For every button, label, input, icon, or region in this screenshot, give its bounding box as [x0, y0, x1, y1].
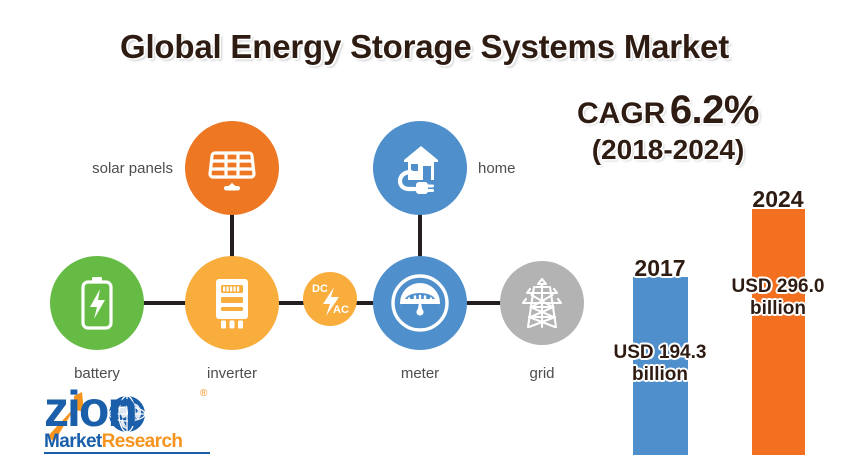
bar-value-2017-line2: billion	[586, 364, 734, 386]
home-plug-icon	[391, 140, 449, 196]
node-label-meter: meter	[370, 365, 470, 382]
connector-meter-grid	[462, 301, 504, 305]
bar-value-2024: USD 296.0 billion	[702, 276, 849, 320]
bar-year-2024: 2024	[728, 186, 828, 213]
node-inverter[interactable]	[185, 256, 279, 350]
node-solar-panels[interactable]	[185, 121, 279, 215]
logo-brand-text: zion	[44, 384, 136, 434]
solar-panel-icon	[205, 141, 259, 195]
connector-home-meter	[418, 212, 422, 260]
meter-icon	[388, 271, 452, 335]
inverter-icon	[208, 274, 256, 332]
node-dc-ac[interactable]: DC AC	[303, 272, 357, 326]
node-label-grid: grid	[492, 365, 592, 382]
cagr-headline: CAGR 6.2%	[498, 90, 838, 130]
page-title: Global Energy Storage Systems Market	[0, 28, 849, 66]
battery-icon	[75, 274, 119, 332]
bar-value-2024-line2: billion	[702, 298, 849, 320]
bar-value-2017: USD 194.3 billion	[586, 342, 734, 386]
logo-research-text: Research	[102, 431, 183, 452]
logo-underline	[44, 452, 210, 454]
bar-year-2017: 2017	[610, 255, 710, 282]
cagr-value: 6.2%	[670, 88, 759, 132]
node-meter[interactable]	[373, 256, 467, 350]
cagr-period: (2018-2024)	[498, 136, 838, 164]
connector-solar-inverter	[230, 212, 234, 260]
bar-value-2017-line1: USD 194.3	[586, 342, 734, 364]
logo-registered-mark: ®	[200, 388, 207, 399]
bar-2024	[752, 209, 805, 455]
node-label-home: home	[478, 160, 538, 177]
dc-ac-icon: DC AC	[303, 272, 357, 326]
cagr-label: CAGR	[577, 97, 665, 130]
node-grid[interactable]	[500, 261, 584, 345]
node-battery[interactable]	[50, 256, 144, 350]
cagr-block: CAGR 6.2% (2018-2024)	[498, 90, 838, 164]
logo-market-text: Market	[44, 431, 102, 452]
node-label-battery: battery	[47, 365, 147, 382]
connector-battery-inverter	[140, 301, 190, 305]
node-label-solar-panels: solar panels	[45, 160, 173, 177]
logo-subtitle: MarketResearch	[44, 432, 182, 451]
zion-market-research-logo[interactable]: zion ® MarketResearch	[30, 386, 220, 456]
infographic-canvas: Global Energy Storage Systems Market CAG…	[0, 0, 849, 473]
bar-value-2024-line1: USD 296.0	[702, 276, 849, 298]
transmission-tower-icon	[517, 274, 567, 332]
node-label-inverter: inverter	[182, 365, 282, 382]
node-home[interactable]	[373, 121, 467, 215]
